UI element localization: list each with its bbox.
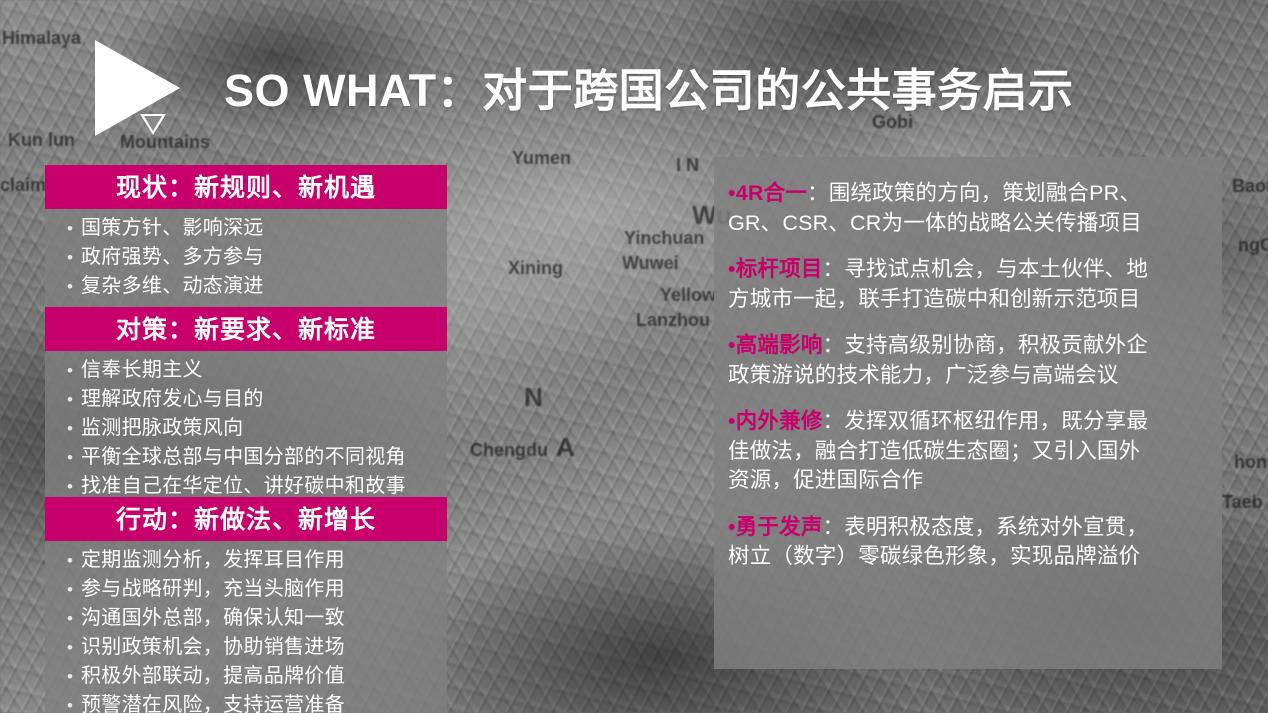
list-item-label: 平衡全球总部与中国分部的不同视角 xyxy=(81,444,406,471)
map-label: ngCh xyxy=(1238,235,1268,256)
bullet-dot-icon: • xyxy=(728,181,736,205)
map-label: claim xyxy=(0,175,46,196)
recommendation-separator: ： xyxy=(823,257,845,281)
bullet-dot-icon: • xyxy=(728,515,736,539)
list-item: •复杂多维、动态演进 xyxy=(45,272,447,301)
recommendation-item: •勇于发声：表明积极态度，系统对外宣贯，树立（数字）零碳绿色形象，实现品牌溢价 xyxy=(728,513,1212,572)
map-label: Baoto xyxy=(1232,176,1268,197)
list-item-label: 参与战略研判，充当头脑作用 xyxy=(81,576,345,603)
recommendation-key: 标杆项目 xyxy=(736,257,823,281)
map-label: Himalaya xyxy=(2,28,81,49)
panel-body: •信奉长期主义•理解政府发心与目的•监测把脉政策风向•平衡全球总部与中国分部的不… xyxy=(45,351,447,511)
map-label: Yumen xyxy=(512,148,571,169)
bullet-dot-icon: • xyxy=(59,634,81,661)
map-label: Xining xyxy=(508,258,563,279)
recommendation-key: 内外兼修 xyxy=(736,409,823,433)
list-item: •预警潜在风险，支持运营准备 xyxy=(45,691,447,713)
list-item: •平衡全球总部与中国分部的不同视角 xyxy=(45,443,447,472)
recommendation-item: •高端影响：支持高级别协商，积极贡献外企政策游说的技术能力，广泛参与高端会议 xyxy=(728,331,1212,390)
right-panel-recommendations: •4R合一：围绕政策的方向，策划融合PR、GR、CSR、CR为一体的战略公关传播… xyxy=(714,157,1222,669)
recommendation-line: 佳做法，融合打造低碳生态圈；又引入国外 xyxy=(728,437,1212,467)
list-item-label: 信奉长期主义 xyxy=(81,357,203,384)
list-item-label: 预警潜在风险，支持运营准备 xyxy=(81,692,345,713)
recommendation-line: •内外兼修：发挥双循环枢纽作用，既分享最 xyxy=(728,407,1212,437)
list-item: •沟通国外总部，确保认知一致 xyxy=(45,604,447,633)
bullet-dot-icon: • xyxy=(59,215,81,242)
bullet-dot-icon: • xyxy=(59,444,81,471)
panel-body: •国策方针、影响深远•政府强势、多方参与•复杂多维、动态演进 xyxy=(45,209,447,311)
recommendation-item: •标杆项目：寻找试点机会，与本土伙伴、地方城市一起，联手打造碳中和创新示范项目 xyxy=(728,255,1212,314)
recommendation-separator: ： xyxy=(807,181,829,205)
recommendation-key: 高端影响 xyxy=(736,333,823,357)
list-item: •定期监测分析，发挥耳目作用 xyxy=(45,546,447,575)
panel-header: 行动：新做法、新增长 xyxy=(45,497,447,541)
recommendation-text: 寻找试点机会，与本土伙伴、地 xyxy=(844,257,1148,281)
bullet-dot-icon: • xyxy=(59,605,81,632)
bullet-dot-icon: • xyxy=(59,663,81,690)
recommendation-text: 围绕政策的方向，策划融合PR、 xyxy=(829,181,1141,205)
panel-body: •定期监测分析，发挥耳目作用•参与战略研判，充当头脑作用•沟通国外总部，确保认知… xyxy=(45,541,447,713)
map-label: A xyxy=(556,432,575,463)
map-label: Taeb xyxy=(1222,492,1263,513)
map-label: Wuwei xyxy=(622,253,679,274)
list-item: •识别政策机会，协助销售进场 xyxy=(45,633,447,662)
list-item-label: 定期监测分析，发挥耳目作用 xyxy=(81,547,345,574)
list-item: •参与战略研判，充当头脑作用 xyxy=(45,575,447,604)
list-item: •监测把脉政策风向 xyxy=(45,414,447,443)
recommendation-key: 勇于发声 xyxy=(736,515,823,539)
recommendation-item: •4R合一：围绕政策的方向，策划融合PR、GR、CSR、CR为一体的战略公关传播… xyxy=(728,179,1212,238)
list-item: •信奉长期主义 xyxy=(45,356,447,385)
map-label: I N xyxy=(676,155,699,176)
list-item: •理解政府发心与目的 xyxy=(45,385,447,414)
list-item: •积极外部联动，提高品牌价值 xyxy=(45,662,447,691)
recommendation-line: •4R合一：围绕政策的方向，策划融合PR、 xyxy=(728,179,1212,209)
map-label: Kun lun xyxy=(8,130,75,151)
recommendation-line: •高端影响：支持高级别协商，积极贡献外企 xyxy=(728,331,1212,361)
recommendation-text: 支持高级别协商，积极贡献外企 xyxy=(844,333,1148,357)
list-item-label: 积极外部联动，提高品牌价值 xyxy=(81,663,345,690)
recommendation-text: 佳做法，融合打造低碳生态圈；又引入国外 xyxy=(728,439,1140,463)
bullet-dot-icon: • xyxy=(728,333,736,357)
recommendation-separator: ： xyxy=(823,409,845,433)
list-item-label: 复杂多维、动态演进 xyxy=(81,273,264,300)
map-label: hon xyxy=(1234,452,1267,473)
page-title: SO WHAT：对于跨国公司的公共事务启示 xyxy=(224,54,1074,119)
recommendation-line: 树立（数字）零碳绿色形象，实现品牌溢价 xyxy=(728,542,1212,572)
list-item-label: 找准自己在华定位、讲好碳中和故事 xyxy=(81,473,406,500)
recommendation-separator: ： xyxy=(823,515,845,539)
recommendation-line: •标杆项目：寻找试点机会，与本土伙伴、地 xyxy=(728,255,1212,285)
recommendation-text: 政策游说的技术能力，广泛参与高端会议 xyxy=(728,363,1119,387)
play-triangle-icon xyxy=(95,40,180,136)
bullet-dot-icon: • xyxy=(59,357,81,384)
map-label: Yellow xyxy=(660,285,716,306)
map-label: Yinchuan xyxy=(624,228,704,249)
map-label: Lanzhou xyxy=(636,310,710,331)
bullet-dot-icon: • xyxy=(728,409,736,433)
bullet-dot-icon: • xyxy=(59,547,81,574)
bullet-dot-icon: • xyxy=(728,257,736,281)
list-item: •政府强势、多方参与 xyxy=(45,243,447,272)
recommendation-key: 4R合一 xyxy=(736,181,807,205)
list-item-label: 识别政策机会，协助销售进场 xyxy=(81,634,345,661)
recommendation-text: 树立（数字）零碳绿色形象，实现品牌溢价 xyxy=(728,544,1140,568)
left-panel-countermeasures: 对策：新要求、新标准 •信奉长期主义•理解政府发心与目的•监测把脉政策风向•平衡… xyxy=(45,307,447,511)
list-item: •国策方针、影响深远 xyxy=(45,214,447,243)
panel-header: 对策：新要求、新标准 xyxy=(45,307,447,351)
recommendation-text: 方城市一起，联手打造碳中和创新示范项目 xyxy=(728,287,1140,311)
panel-header: 现状：新规则、新机遇 xyxy=(45,165,447,209)
map-label: N xyxy=(524,382,543,413)
recommendation-line: GR、CSR、CR为一体的战略公关传播项目 xyxy=(728,209,1212,239)
list-item-label: 沟通国外总部，确保认知一致 xyxy=(81,605,345,632)
list-item-label: 理解政府发心与目的 xyxy=(81,386,264,413)
list-item-label: 政府强势、多方参与 xyxy=(81,244,264,271)
map-label: Chengdu xyxy=(470,440,548,461)
list-item-label: 国策方针、影响深远 xyxy=(81,215,264,242)
left-panel-current-state: 现状：新规则、新机遇 •国策方针、影响深远•政府强势、多方参与•复杂多维、动态演… xyxy=(45,165,447,311)
recommendation-text: 资源，促进国际合作 xyxy=(728,468,923,492)
recommendation-line: •勇于发声：表明积极态度，系统对外宣贯， xyxy=(728,513,1212,543)
recommendation-text: 表明积极态度，系统对外宣贯， xyxy=(844,515,1148,539)
bullet-dot-icon: • xyxy=(59,473,81,500)
bullet-dot-icon: • xyxy=(59,576,81,603)
bullet-dot-icon: • xyxy=(59,273,81,300)
recommendation-separator: ： xyxy=(823,333,845,357)
recommendation-line: 方城市一起，联手打造碳中和创新示范项目 xyxy=(728,285,1212,315)
bullet-dot-icon: • xyxy=(59,692,81,713)
recommendation-line: 政策游说的技术能力，广泛参与高端会议 xyxy=(728,361,1212,391)
list-item-label: 监测把脉政策风向 xyxy=(81,415,243,442)
recommendation-text: 发挥双循环枢纽作用，既分享最 xyxy=(844,409,1148,433)
recommendation-item: •内外兼修：发挥双循环枢纽作用，既分享最佳做法，融合打造低碳生态圈；又引入国外资… xyxy=(728,407,1212,496)
small-triangle-outline-icon xyxy=(140,114,166,135)
recommendation-text: GR、CSR、CR为一体的战略公关传播项目 xyxy=(728,211,1142,235)
bullet-dot-icon: • xyxy=(59,386,81,413)
bullet-dot-icon: • xyxy=(59,244,81,271)
bullet-dot-icon: • xyxy=(59,415,81,442)
left-panel-actions: 行动：新做法、新增长 •定期监测分析，发挥耳目作用•参与战略研判，充当头脑作用•… xyxy=(45,497,447,713)
recommendation-line: 资源，促进国际合作 xyxy=(728,466,1212,496)
